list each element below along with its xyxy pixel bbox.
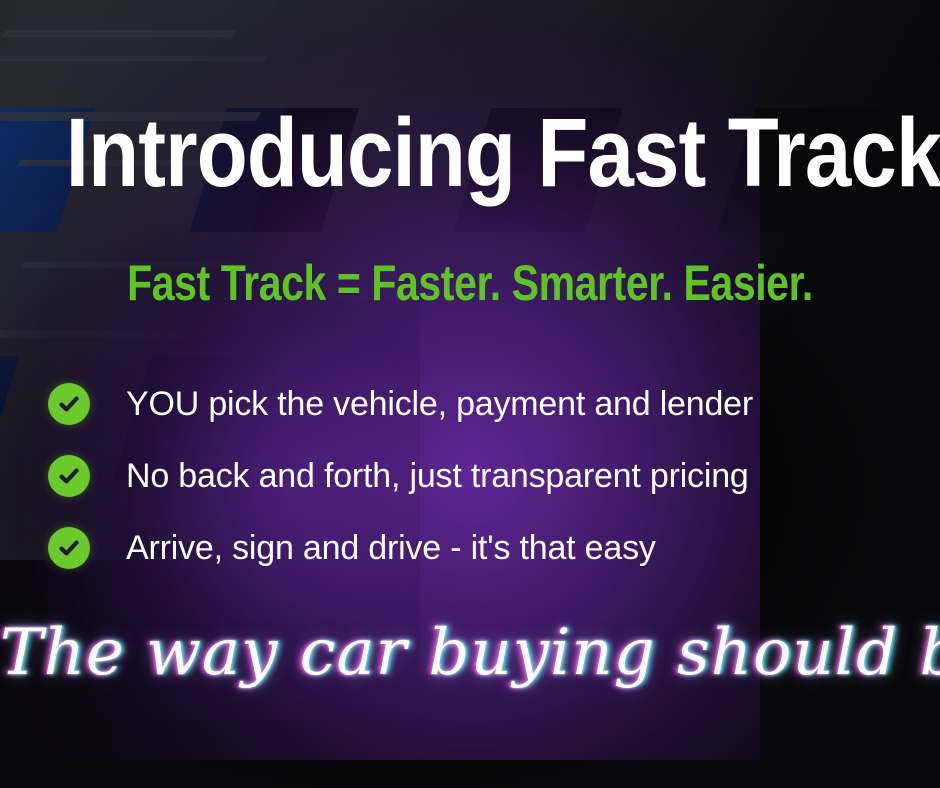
tagline: The way car buying should be.: [0, 618, 940, 688]
promo-poster: Introducing Fast Track Fast Track = Fast…: [0, 0, 940, 788]
check-circle-icon: [48, 383, 90, 425]
subtitle: Fast Track = Faster. Smarter. Easier.: [85, 258, 856, 308]
list-item: YOU pick the vehicle, payment and lender: [48, 380, 908, 428]
list-item-label: No back and forth, just transparent pric…: [126, 459, 749, 493]
page-title: Introducing Fast Track: [66, 104, 874, 201]
check-circle-icon: [48, 527, 90, 569]
benefits-list: YOU pick the vehicle, payment and lender…: [48, 380, 908, 596]
list-item: Arrive, sign and drive - it's that easy: [48, 524, 908, 572]
list-item: No back and forth, just transparent pric…: [48, 452, 908, 500]
check-circle-icon: [48, 455, 90, 497]
list-item-label: Arrive, sign and drive - it's that easy: [126, 531, 656, 565]
list-item-label: YOU pick the vehicle, payment and lender: [126, 387, 753, 421]
poster-content: Introducing Fast Track Fast Track = Fast…: [0, 0, 940, 788]
